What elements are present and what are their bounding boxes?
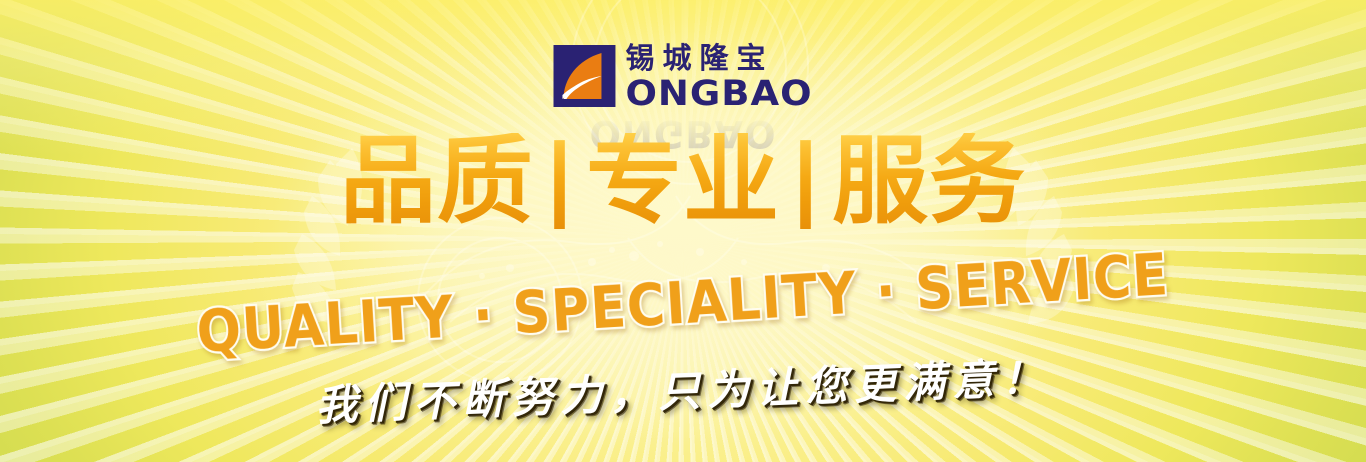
sail-logo-icon xyxy=(553,45,615,107)
headline-word-service: 服务 xyxy=(832,133,1026,229)
headline-separator-1: | xyxy=(540,133,580,229)
company-logo[interactable]: 锡城隆宝 ONGBAO xyxy=(553,44,812,113)
headline-word-speciality: 专业 xyxy=(586,133,780,229)
promo-banner: ONGBAO 锡城隆宝 ONGBAO 品质 | 专业 | 服务 QUALITY … xyxy=(0,0,1366,462)
headline: 品质 | 专业 | 服务 xyxy=(0,133,1366,229)
headline-separator-2: | xyxy=(786,133,826,229)
logo-wordmark: 锡城隆宝 ONGBAO xyxy=(625,44,812,113)
headline-inner: 品质 | 专业 | 服务 xyxy=(340,133,1026,229)
logo-english-wordmark: ONGBAO xyxy=(625,76,812,111)
headline-word-quality: 品质 xyxy=(340,133,534,229)
logo-chinese-name: 锡城隆宝 xyxy=(625,44,812,73)
